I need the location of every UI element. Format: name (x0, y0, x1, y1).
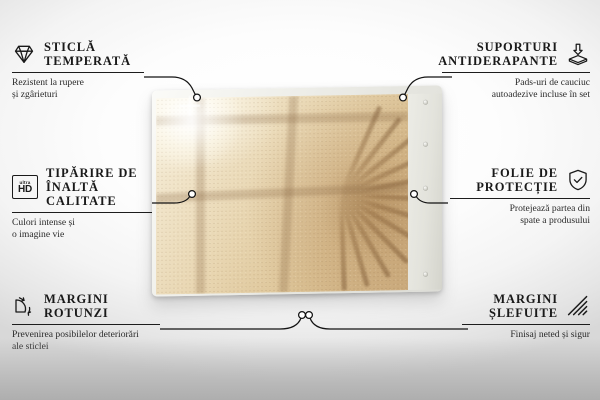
feature-header: MARGINI ȘLEFUITE (462, 292, 590, 320)
feature-title: TIPĂRIRE DE ÎNALTĂ CALITATE (46, 166, 152, 208)
rounded-corner-icon (12, 294, 36, 318)
feature-title: STICLĂ TEMPERATĂ (44, 40, 131, 68)
divider (450, 198, 590, 199)
feature-header: FOLIE DE PROTECȚIE (450, 166, 590, 194)
printed-surface (156, 94, 408, 294)
feature-protective-foil: FOLIE DE PROTECȚIE Protejează partea din… (450, 166, 590, 226)
hatched-triangle-icon (566, 294, 590, 318)
feature-subtitle: Rezistent la rupere și zgârieturi (12, 77, 144, 100)
feature-subtitle: Pads-uri de cauciuc autoadezive incluse … (442, 77, 590, 100)
feature-subtitle: Prevenirea posibilelor deteriorări ale s… (12, 329, 160, 352)
badge-large-text: HD (18, 185, 32, 195)
sun-glow (156, 94, 296, 223)
feature-header: MARGINI ROTUNZI (12, 292, 160, 320)
board-frame-right (408, 93, 442, 290)
feature-title: MARGINI ROTUNZI (44, 292, 109, 320)
feature-title: SUPORTURI ANTIDERAPANTE (438, 40, 558, 68)
product-image (152, 88, 444, 300)
ultra-hd-icon: ultra HD (12, 175, 38, 199)
feature-header: SUPORTURI ANTIDERAPANTE (442, 40, 590, 68)
feature-subtitle: Protejează partea din spate a produsului (450, 203, 590, 226)
divider (442, 72, 590, 73)
divider (12, 212, 152, 213)
feature-title: MARGINI ȘLEFUITE (489, 292, 558, 320)
sparkle-icon (180, 96, 200, 116)
feature-subtitle: Finisaj neted și sigur (462, 329, 590, 340)
feature-title: FOLIE DE PROTECȚIE (476, 166, 558, 194)
feature-anti-slip-supports: SUPORTURI ANTIDERAPANTE Pads-uri de cauc… (442, 40, 590, 100)
feature-rounded-edges: MARGINI ROTUNZI Prevenirea posibilelor d… (12, 292, 160, 352)
divider (462, 324, 590, 325)
pad-stack-arrow-icon (566, 42, 590, 66)
infographic-canvas: STICLĂ TEMPERATĂ Rezistent la rupere și … (0, 0, 600, 400)
feature-high-quality-print: ultra HD TIPĂRIRE DE ÎNALTĂ CALITATE Cul… (12, 166, 152, 240)
divider (12, 72, 144, 73)
feature-polished-edges: MARGINI ȘLEFUITE Finisaj neted și sigur (462, 292, 590, 341)
divider (12, 324, 160, 325)
glass-board (152, 85, 442, 296)
feature-subtitle: Culori intense și o imagine vie (12, 217, 152, 240)
feature-header: ultra HD TIPĂRIRE DE ÎNALTĂ CALITATE (12, 166, 152, 208)
feature-tempered-glass: STICLĂ TEMPERATĂ Rezistent la rupere și … (12, 40, 144, 100)
feature-header: STICLĂ TEMPERATĂ (12, 40, 144, 68)
diamond-icon (12, 42, 36, 66)
shield-check-icon (566, 168, 590, 192)
